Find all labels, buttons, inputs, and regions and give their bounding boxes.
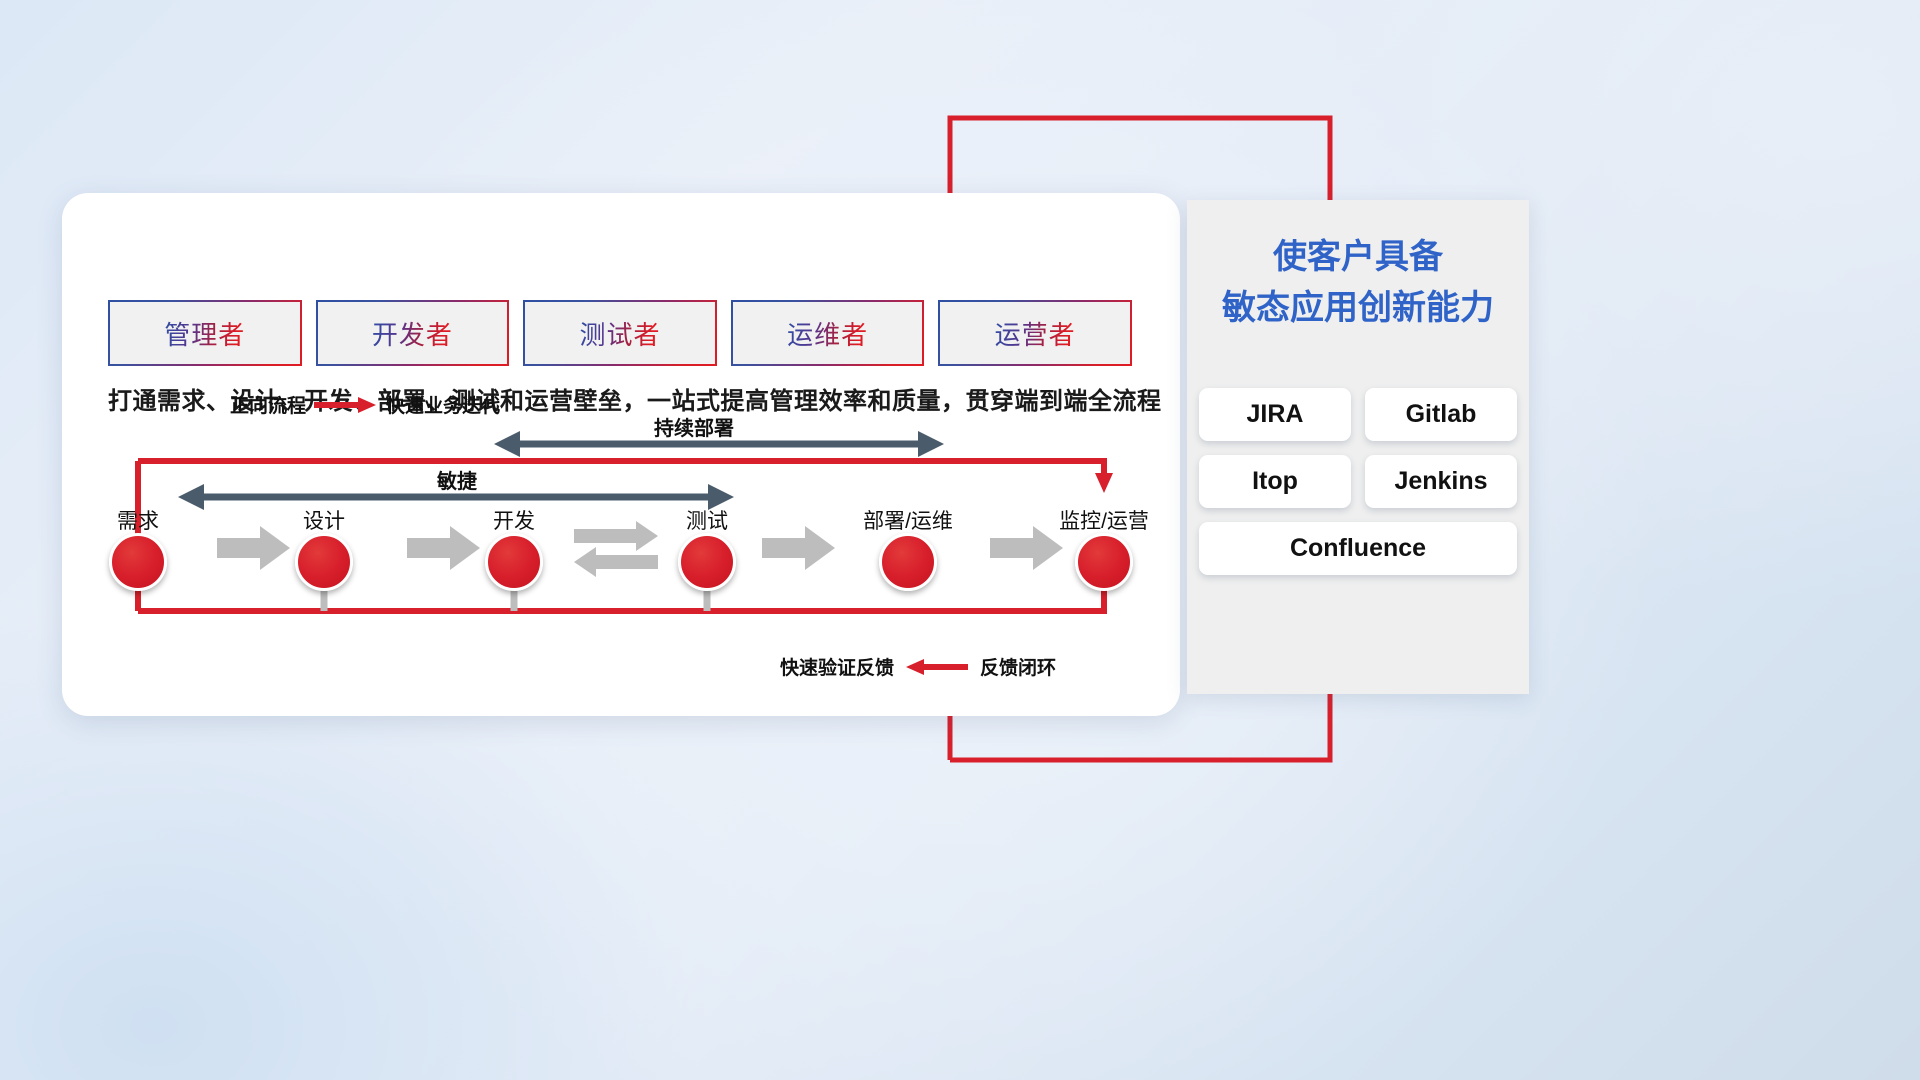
role-box-operator[interactable]: 运营者 bbox=[940, 302, 1130, 364]
node-test[interactable] bbox=[678, 533, 736, 591]
node-deploy-ops[interactable] bbox=[879, 533, 937, 591]
role-box-manager[interactable]: 管理者 bbox=[110, 302, 300, 364]
role-box-ops[interactable]: 运维者 bbox=[733, 302, 923, 364]
pipeline-diagram bbox=[62, 193, 1180, 716]
node-design[interactable] bbox=[295, 533, 353, 591]
role-box-tester[interactable]: 测试者 bbox=[525, 302, 715, 364]
tool-chip-jenkins[interactable]: Jenkins bbox=[1365, 455, 1517, 508]
role-label: 运维者 bbox=[787, 315, 868, 352]
node-label-requirement: 需求 bbox=[117, 505, 159, 535]
main-card: 管理者 开发者 测试者 运维者 运营者 打通需求、设计、开发、部署、测试和运营壁… bbox=[62, 193, 1180, 716]
role-label: 管理者 bbox=[164, 315, 245, 352]
tool-chip-confluence[interactable]: Confluence bbox=[1199, 522, 1517, 575]
capability-title-line-1: 使客户具备 bbox=[1187, 232, 1529, 283]
capability-panel-title: 使客户具备 敏态应用创新能力 bbox=[1187, 232, 1529, 334]
node-label-test: 测试 bbox=[686, 505, 728, 535]
capability-panel: 使客户具备 敏态应用创新能力 JIRA Gitlab Itop Jenkins … bbox=[1187, 200, 1529, 694]
agile-arrow bbox=[178, 484, 734, 510]
role-label: 测试者 bbox=[579, 315, 660, 352]
tool-chip-itop[interactable]: Itop bbox=[1199, 455, 1351, 508]
node-label-monitor-operate: 监控/运营 bbox=[1059, 505, 1149, 535]
tool-chip-gitlab[interactable]: Gitlab bbox=[1365, 388, 1517, 441]
node-label-deploy-ops: 部署/运维 bbox=[863, 505, 953, 535]
node-requirement[interactable] bbox=[109, 533, 167, 591]
role-label: 开发者 bbox=[372, 315, 453, 352]
role-label: 运营者 bbox=[995, 315, 1076, 352]
dev-test-loop-arrows bbox=[574, 521, 658, 577]
continuous-deployment-arrow bbox=[494, 431, 944, 457]
role-box-developer[interactable]: 开发者 bbox=[318, 302, 508, 364]
node-label-design: 设计 bbox=[303, 505, 345, 535]
capability-title-line-2: 敏态应用创新能力 bbox=[1187, 283, 1529, 334]
tool-grid: JIRA Gitlab Itop Jenkins Confluence bbox=[1199, 388, 1517, 575]
slide-canvas: 管理者 开发者 测试者 运维者 运营者 打通需求、设计、开发、部署、测试和运营壁… bbox=[0, 0, 1920, 1080]
node-develop[interactable] bbox=[485, 533, 543, 591]
node-label-develop: 开发 bbox=[493, 505, 535, 535]
node-monitor-operate[interactable] bbox=[1075, 533, 1133, 591]
tool-chip-jira[interactable]: JIRA bbox=[1199, 388, 1351, 441]
role-box-row: 管理者 开发者 测试者 运维者 运营者 bbox=[110, 302, 1130, 364]
